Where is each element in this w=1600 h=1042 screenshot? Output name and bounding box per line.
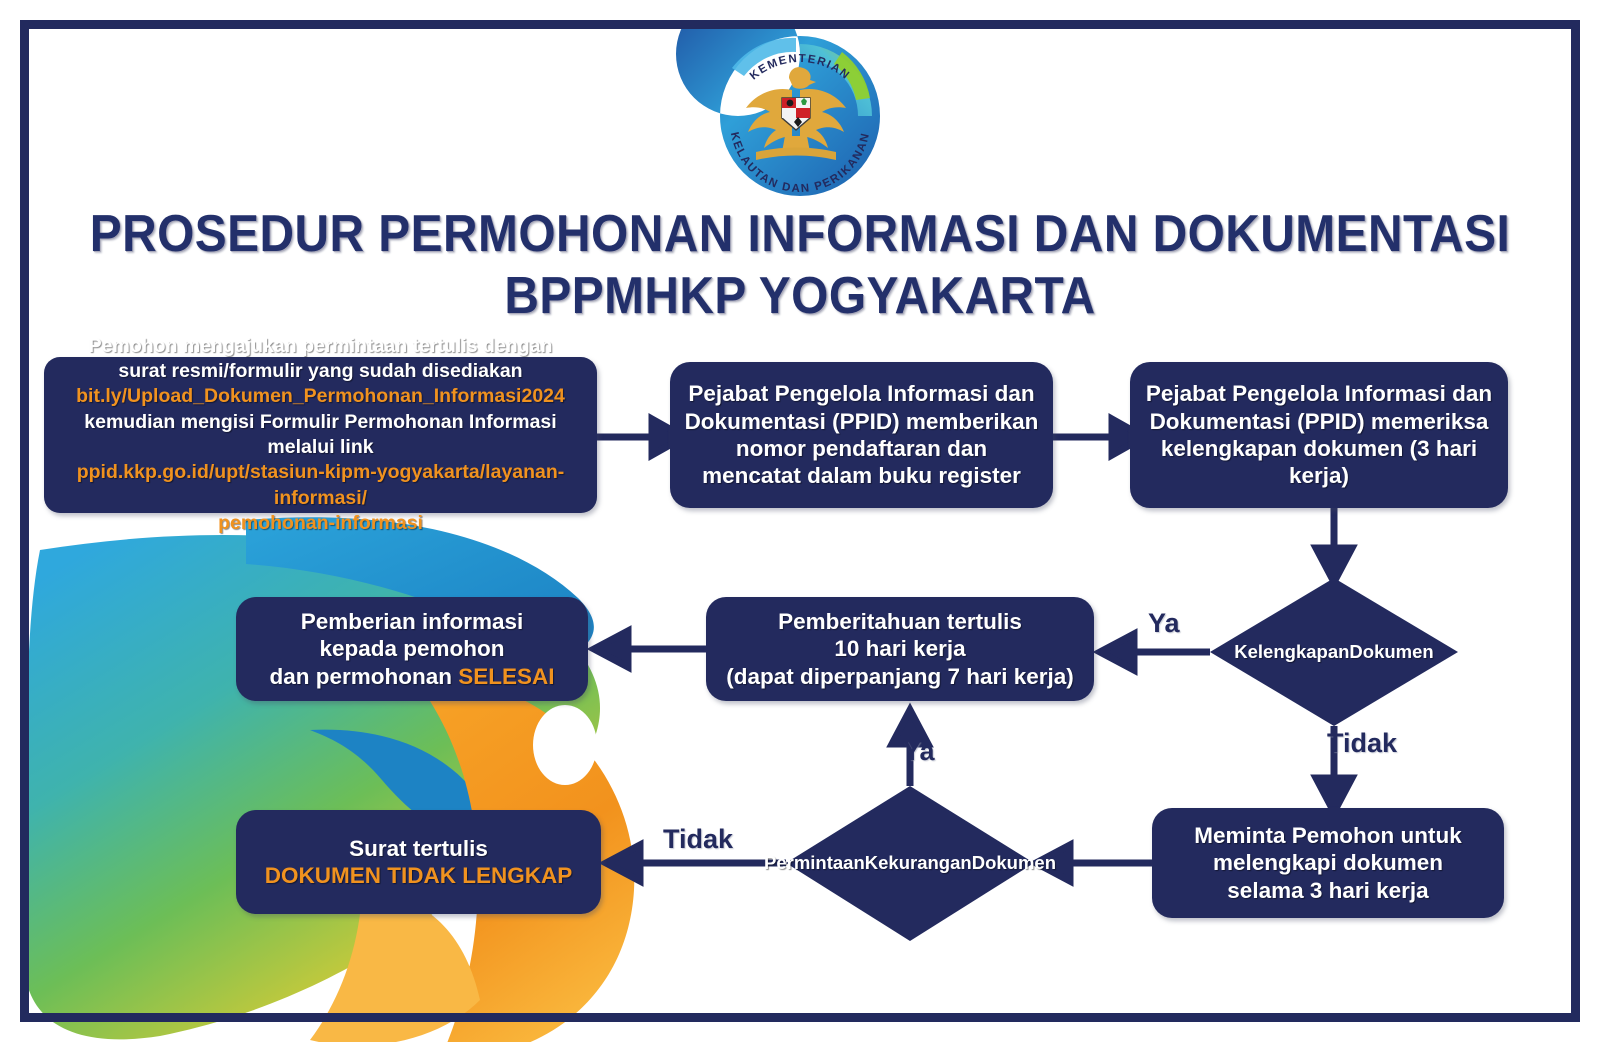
text-line: melengkapi dokumen [1194,849,1462,876]
text-span: mencatat dalam buku register [702,463,1021,488]
text-line: mencatat dalam buku register [685,462,1039,489]
text-span: Pemohon mengajukan permintaan tertulis d… [89,335,553,357]
text-span: selama 3 hari kerja [1227,878,1428,903]
text-line: Kelengkapan [1234,641,1349,663]
text-line: Pemohon mengajukan permintaan tertulis d… [54,334,587,359]
dia-2-text: PermintaanKekuranganDokumen [786,786,1034,941]
text-span: Pemberian informasi [301,609,524,634]
text-span: (dapat diperpanjang 7 hari kerja) [726,664,1074,689]
text-line: bit.ly/Upload_Dokumen_Permohonan_Informa… [54,384,587,409]
edge-label-ya-kelengkapan: Ya [1148,608,1180,639]
node-pemberian-informasi-selesai[interactable]: Pemberian informasikepada pemohondan per… [236,597,588,701]
text-span: Meminta Pemohon untuk [1194,823,1462,848]
text-line: Dokumentasi (PPID) memeriksa [1140,408,1498,435]
node-surat-tertulis-dokumen-tidak-lengkap[interactable]: Surat tertulisDOKUMEN TIDAK LENGKAP [236,810,601,914]
text-span: nomor pendaftaran dan [736,436,987,461]
node-7-text: Meminta Pemohon untukmelengkapi dokumens… [1184,818,1472,908]
text-span: kepada pemohon [319,636,504,661]
node-pemberitahuan-tertulis[interactable]: Pemberitahuan tertulis10 hari kerja(dapa… [706,597,1094,701]
node-5-text: Pemberitahuan tertulis10 hari kerja(dapa… [716,604,1084,694]
text-line: DOKUMEN TIDAK LENGKAP [265,862,573,889]
node-4-text: Pemberian informasikepada pemohondan per… [259,604,564,694]
decision-permintaan-kekurangan-dokumen[interactable]: PermintaanKekuranganDokumen [786,786,1034,941]
text-line: pemohonan-informasi [54,511,587,536]
text-line: surat resmi/formulir yang sudah disediak… [54,359,587,384]
node-meminta-pemohon-melengkapi[interactable]: Meminta Pemohon untukmelengkapi dokumens… [1152,808,1504,918]
text-span: DOKUMEN TIDAK LENGKAP [265,863,573,888]
text-line: kepada pemohon [269,635,554,662]
text-span: Surat tertulis [349,836,488,861]
node-2-text: Pejabat Pengelola Informasi danDokumenta… [675,376,1049,494]
text-line: Pejabat Pengelola Informasi dan [1140,380,1498,407]
node-ppid-memeriksa-kelengkapan[interactable]: Pejabat Pengelola Informasi danDokumenta… [1130,362,1508,508]
text-line: nomor pendaftaran dan [685,435,1039,462]
text-line: kelengkapan dokumen (3 hari kerja) [1140,435,1498,490]
text-line: 10 hari kerja [726,635,1074,662]
text-span: kemudian mengisi Formulir Permohonan Inf… [84,411,556,458]
text-span: Pejabat Pengelola Informasi dan [1146,381,1492,406]
node-6-text: Surat tertulisDOKUMEN TIDAK LENGKAP [255,831,583,894]
text-span: ppid.kkp.go.id/upt/stasiun-kipm-yogyakar… [77,461,565,508]
text-line: Dokumen [1349,641,1433,663]
text-line: selama 3 hari kerja [1194,877,1462,904]
text-line: Kekurangan [865,852,972,874]
text-span: dan permohonan [269,664,458,689]
text-line: ppid.kkp.go.id/upt/stasiun-kipm-yogyakar… [54,460,587,511]
text-line: Dokumen [972,852,1056,874]
text-line: Meminta Pemohon untuk [1194,822,1462,849]
text-span: Pejabat Pengelola Informasi dan [688,381,1034,406]
decision-kelengkapan-dokumen[interactable]: KelengkapanDokumen [1210,578,1458,726]
edge-label-tidak-kelengkapan: Tidak [1327,728,1397,759]
text-span: 10 hari kerja [834,636,965,661]
text-line: (dapat diperpanjang 7 hari kerja) [726,663,1074,690]
text-span: surat resmi/formulir yang sudah disediak… [118,360,522,382]
node-3-text: Pejabat Pengelola Informasi danDokumenta… [1130,376,1508,494]
text-line: Pemberian informasi [269,608,554,635]
text-line: dan permohonan SELESAI [269,663,554,690]
text-span: Pemberitahuan tertulis [778,609,1022,634]
text-line: Surat tertulis [265,835,573,862]
text-line: Pejabat Pengelola Informasi dan [685,380,1039,407]
text-line: Permintaan [764,852,865,874]
edge-label-tidak-permintaan: Tidak [663,824,733,855]
node-1-text: Pemohon mengajukan permintaan tertulis d… [44,330,597,541]
text-span: pemohonan-informasi [218,512,423,534]
text-line: kemudian mengisi Formulir Permohonan Inf… [54,410,587,461]
dia-1-text: KelengkapanDokumen [1210,578,1458,726]
text-span: bit.ly/Upload_Dokumen_Permohonan_Informa… [76,385,565,407]
edge-label-ya-permintaan: Ya [903,736,935,767]
node-ppid-nomor-pendaftaran[interactable]: Pejabat Pengelola Informasi danDokumenta… [670,362,1053,508]
text-span: Dokumentasi (PPID) memeriksa [1150,409,1489,434]
text-line: Pemberitahuan tertulis [726,608,1074,635]
text-span: Dokumentasi (PPID) memberikan [685,409,1039,434]
node-pemohon-mengajukan-permintaan[interactable]: Pemohon mengajukan permintaan tertulis d… [44,357,597,513]
accent-text-span: SELESAI [458,664,554,689]
text-line: Dokumentasi (PPID) memberikan [685,408,1039,435]
text-span: kelengkapan dokumen (3 hari kerja) [1161,436,1477,488]
text-span: melengkapi dokumen [1213,850,1443,875]
